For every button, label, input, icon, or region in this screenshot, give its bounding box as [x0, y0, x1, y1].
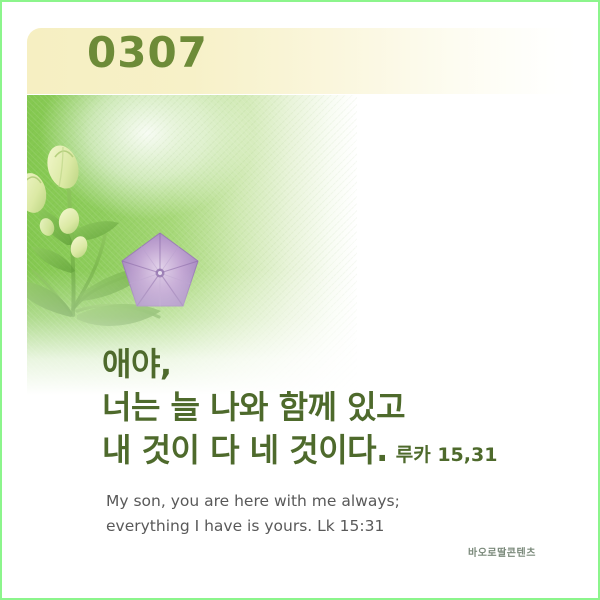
- verse-korean-line-3-text: 내 것이 다 네 것이다.: [102, 431, 388, 469]
- verse-english: My son, you are here with me always; eve…: [106, 489, 536, 539]
- date-number: 0307: [87, 32, 208, 74]
- verse-korean-reference: 루카 15,31: [396, 444, 498, 466]
- verse-korean-line-3: 내 것이 다 네 것이다.루카 15,31: [102, 429, 572, 477]
- publisher-credit: 바오로딸콘텐츠: [468, 544, 536, 559]
- verse-english-line-2: everything I have is yours. Lk 15:31: [106, 514, 536, 539]
- verse-korean-line-2: 너는 늘 나와 함께 있고: [102, 386, 572, 429]
- verse-korean: 애야, 너는 늘 나와 함께 있고 내 것이 다 네 것이다.루카 15,31: [102, 343, 572, 477]
- verse-english-line-1: My son, you are here with me always;: [106, 489, 536, 514]
- daily-verse-card: 0307: [0, 0, 600, 600]
- verse-korean-line-1: 애야,: [102, 343, 572, 386]
